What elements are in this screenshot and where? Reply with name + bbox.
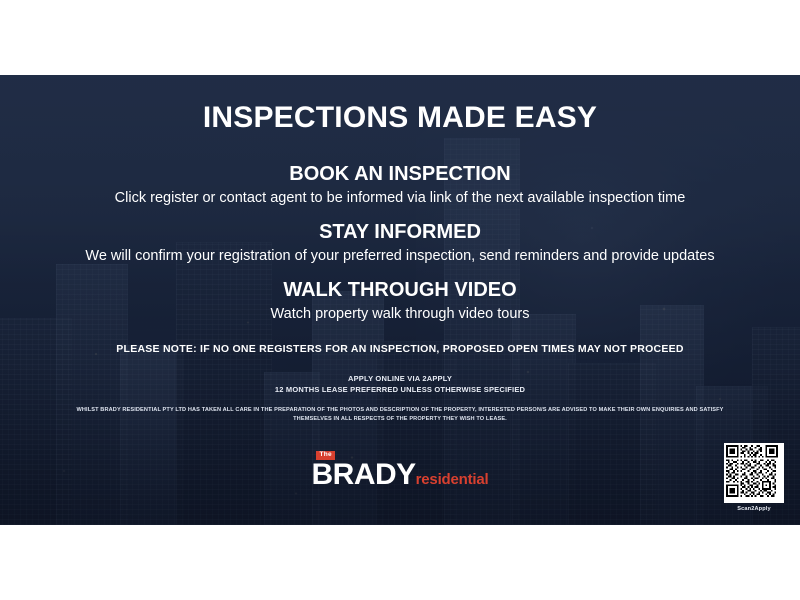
please-note-text: PLEASE NOTE: IF NO ONE REGISTERS FOR AN … (0, 343, 800, 356)
section-subtext: We will confirm your registration of you… (0, 248, 800, 265)
section-heading: STAY INFORMED (0, 221, 800, 244)
slide-content: INSPECTIONS MADE EASY BOOK AN INSPECTION… (0, 75, 800, 525)
logo-brady-wordmark: BRADY (311, 458, 415, 491)
logo-residential-wordmark: residential (416, 471, 489, 488)
apply-info-lines: APPLY ONLINE VIA 2APPLY 12 MONTHS LEASE … (0, 373, 800, 396)
qr-code-icon[interactable] (724, 443, 784, 503)
lease-term-line: 12 MONTHS LEASE PREFERRED UNLESS OTHERWI… (0, 384, 800, 395)
inspection-slide: INSPECTIONS MADE EASY BOOK AN INSPECTION… (0, 75, 800, 525)
section-subtext: Watch property walk through video tours (0, 306, 800, 323)
page-canvas: INSPECTIONS MADE EASY BOOK AN INSPECTION… (0, 0, 800, 600)
page-title: INSPECTIONS MADE EASY (0, 101, 800, 134)
logo-lockup: TheBRADYresidential (311, 460, 488, 490)
apply-online-line: APPLY ONLINE VIA 2APPLY (0, 373, 800, 384)
section-heading: BOOK AN INSPECTION (0, 163, 800, 186)
logo-the-badge: The (316, 451, 334, 460)
legal-disclaimer-text: WHILST BRADY RESIDENTIAL PTY LTD HAS TAK… (60, 406, 740, 423)
section-walk-through-video: WALK THROUGH VIDEO Watch property walk t… (0, 279, 800, 323)
section-stay-informed: STAY INFORMED We will confirm your regis… (0, 221, 800, 265)
section-heading: WALK THROUGH VIDEO (0, 279, 800, 302)
qr-caption-label: Scan2Apply (723, 506, 785, 512)
brady-residential-logo: TheBRADYresidential (0, 460, 800, 500)
section-subtext: Click register or contact agent to be in… (0, 190, 800, 207)
section-book-an-inspection: BOOK AN INSPECTION Click register or con… (0, 163, 800, 207)
scan2apply-qr-block[interactable]: Scan2Apply (723, 443, 785, 512)
